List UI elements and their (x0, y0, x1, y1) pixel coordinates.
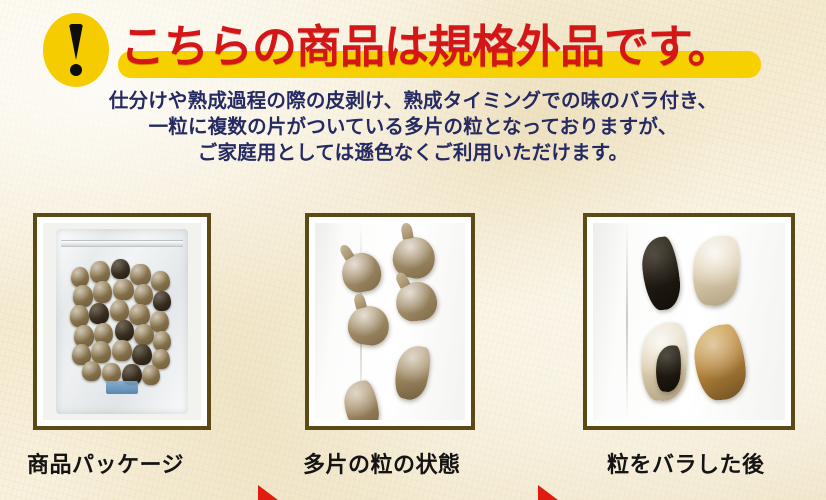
photo-caption-separated-clove: 粒をバラした後 (607, 447, 765, 479)
photo-frame-multi-clove (305, 213, 475, 430)
clove (339, 249, 384, 295)
clove-black (639, 235, 683, 311)
photo-caption-multi-clove: 多片の粒の状態 (303, 447, 461, 479)
arrow-right-icon-1 (208, 485, 298, 500)
photo-caption-package: 商品パッケージ (27, 447, 184, 479)
headline-text: こちらの商品は規格外品です。 (120, 16, 732, 78)
white-sheet (593, 223, 785, 420)
headline-row: こちらの商品は規格外品です。 (0, 0, 826, 90)
body-paragraph: 仕分けや熟成過程の際の皮剥け、熟成タイミングでの味のバラ付き、 一粒に複数の片が… (0, 88, 826, 166)
arrow-right-icon-2 (488, 485, 578, 500)
bag-label-sticker (106, 381, 138, 394)
clove-tip (400, 223, 413, 240)
photo-frame-package (33, 213, 211, 430)
clove (342, 379, 382, 420)
body-line-1: 仕分けや熟成過程の際の皮剥け、熟成タイミングでの味のバラ付き、 (0, 88, 826, 114)
clove (394, 280, 438, 323)
clove (390, 342, 435, 404)
clove (345, 303, 391, 348)
exclamation-mark-icon (43, 13, 109, 87)
photo-package (43, 223, 201, 420)
plastic-bag (56, 229, 189, 414)
clove-husk (688, 232, 743, 309)
exclamation-dot (70, 64, 82, 76)
photo-separated-clove (593, 223, 785, 420)
body-line-3: ご家庭用としては遜色なくご利用いただけます。 (0, 140, 826, 166)
bag-zip-seal (61, 240, 183, 247)
clove-tip (338, 242, 355, 260)
product-notice-banner: こちらの商品は規格外品です。 仕分けや熟成過程の際の皮剥け、熟成タイミングでの味… (0, 0, 826, 500)
body-line-2: 一粒に複数の片がついている多片の粒となっておりますが、 (0, 114, 826, 140)
clove-tip (353, 292, 367, 309)
headline-wrap: こちらの商品は規格外品です。 (118, 16, 808, 82)
photo-strip (0, 200, 826, 440)
clove-pile (69, 259, 175, 392)
exclamation-stem (69, 24, 83, 60)
exclamation-glyph (68, 24, 84, 76)
sheet-crease (626, 223, 628, 420)
photo-multi-clove (315, 223, 465, 420)
clove-amber (692, 323, 748, 402)
photo-frame-separated-clove (583, 213, 795, 430)
white-sheet (315, 223, 465, 420)
